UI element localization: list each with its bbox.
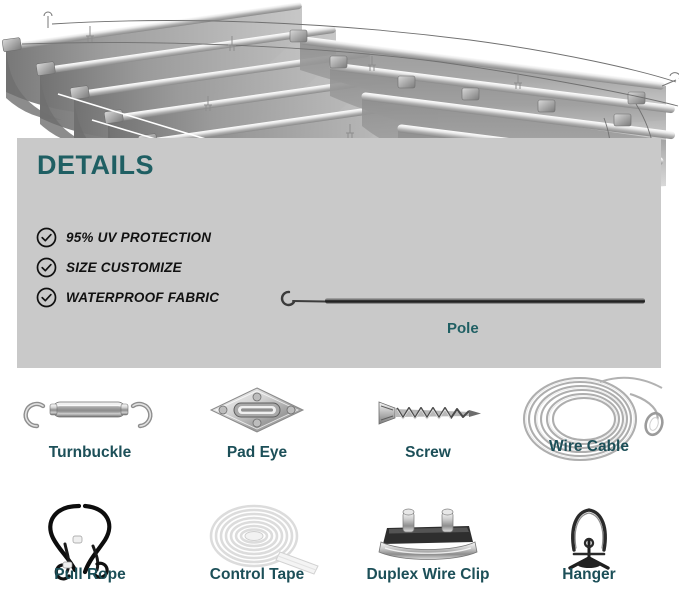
pole-icon xyxy=(273,278,653,312)
screw-icon xyxy=(343,376,513,454)
duplex-wire-clip-icon xyxy=(343,498,513,576)
feature-label: SIZE CUSTOMIZE xyxy=(66,260,182,275)
accessory-item-pull-rope: Pull Rope xyxy=(5,498,175,610)
feature-label: 95% UV PROTECTION xyxy=(66,230,211,245)
check-circle-icon xyxy=(36,257,57,278)
check-circle-icon xyxy=(36,227,57,248)
feature-item: WATERPROOF FABRIC xyxy=(36,287,219,308)
feature-item: SIZE CUSTOMIZE xyxy=(36,257,182,278)
accessory-label: Duplex Wire Clip xyxy=(343,566,513,584)
details-panel: DETAILS 95% UV PROTECTION SIZE CUSTOMIZE xyxy=(17,138,661,368)
accessory-label: Turnbuckle xyxy=(5,444,175,462)
accessory-item-pad-eye: Pad Eye xyxy=(172,376,342,488)
feature-item: 95% UV PROTECTION xyxy=(36,227,211,248)
hanger-icon xyxy=(504,498,674,576)
feature-label: WATERPROOF FABRIC xyxy=(66,290,219,305)
accessory-item-wire-cable: Wire Cable xyxy=(504,376,674,488)
accessory-label: Control Tape xyxy=(172,566,342,584)
accessory-label: Screw xyxy=(343,444,513,462)
accessory-item-hanger: Hanger xyxy=(504,498,674,610)
accessory-label: Hanger xyxy=(504,566,674,584)
pole-label: Pole xyxy=(447,320,479,337)
accessory-item-screw: Screw xyxy=(343,376,513,488)
page-title: DETAILS xyxy=(37,150,154,181)
turnbuckle-icon xyxy=(5,376,175,454)
accessory-item-control-tape: Control Tape xyxy=(172,498,342,610)
accessories-grid: Turnbuckle xyxy=(0,376,679,611)
accessory-label: Wire Cable xyxy=(504,438,674,456)
accessory-item-turnbuckle: Turnbuckle xyxy=(5,376,175,488)
accessory-item-duplex-wire-clip: Duplex Wire Clip xyxy=(343,498,513,610)
product-infographic: DETAILS 95% UV PROTECTION SIZE CUSTOMIZE xyxy=(0,0,679,611)
accessory-label: Pull Rope xyxy=(5,566,175,584)
accessory-label: Pad Eye xyxy=(172,444,342,462)
pad-eye-icon xyxy=(172,376,342,454)
check-circle-icon xyxy=(36,287,57,308)
